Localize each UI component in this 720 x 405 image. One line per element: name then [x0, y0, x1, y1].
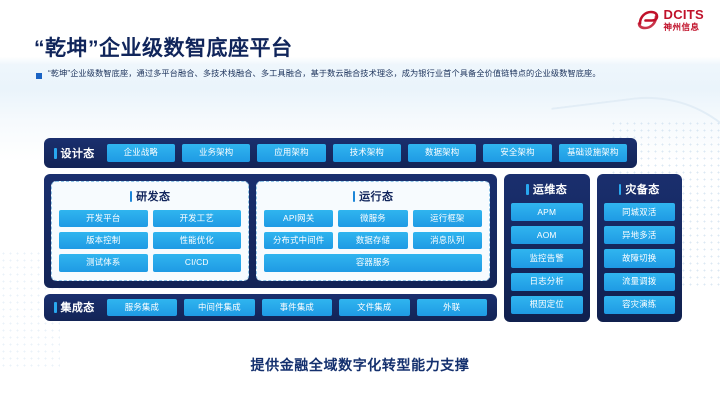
integration-layer-chips: 服务集成 中间件集成 事件集成 文件集成 外联: [107, 299, 487, 316]
page-title: “乾坤”企业级数智底座平台: [34, 32, 293, 62]
logo-en-text: DCITS: [664, 8, 705, 21]
diagram-left-stack: 研发态 开发平台 开发工艺 版本控制 性能优化 测试体系 CI/CD: [44, 174, 497, 322]
runtime-layer-label: 运行态: [264, 188, 482, 204]
runtime-chip[interactable]: 消息队列: [413, 232, 482, 249]
develop-chip[interactable]: 性能优化: [153, 232, 242, 249]
section-tick-icon: [619, 184, 622, 195]
runtime-layer-name: 运行态: [359, 188, 393, 204]
runtime-layer-card: 运行态 API网关 微服务 运行框架 分布式中间件 数据存储 消息队列 容器服务: [256, 181, 490, 281]
design-chip[interactable]: 安全架构: [483, 144, 551, 161]
develop-chip[interactable]: 测试体系: [59, 254, 148, 271]
develop-layer-chips: 开发平台 开发工艺 版本控制 性能优化 测试体系 CI/CD: [59, 210, 241, 272]
develop-layer-card: 研发态 开发平台 开发工艺 版本控制 性能优化 测试体系 CI/CD: [51, 181, 249, 281]
dr-chip[interactable]: 容灾演练: [604, 296, 676, 314]
diagram-middle-region: 研发态 开发平台 开发工艺 版本控制 性能优化 测试体系 CI/CD: [44, 174, 682, 322]
ops-layer-column: 运维态 APM AOM 监控告警 日志分析 根因定位: [504, 174, 590, 322]
ops-chip[interactable]: 根因定位: [511, 296, 583, 314]
develop-chip[interactable]: 版本控制: [59, 232, 148, 249]
design-chip[interactable]: 技术架构: [333, 144, 401, 161]
runtime-chip[interactable]: 数据存储: [338, 232, 407, 249]
design-layer-name: 设计态: [61, 145, 95, 161]
runtime-chip[interactable]: 微服务: [338, 210, 407, 227]
dcits-swoosh-icon: [637, 9, 659, 31]
square-bullet-icon: [36, 73, 42, 79]
design-layer-label: 设计态: [54, 145, 95, 161]
ops-chip[interactable]: AOM: [511, 226, 583, 244]
brand-logo: DCITS 神州信息: [637, 8, 705, 32]
ops-layer-chips: APM AOM 监控告警 日志分析 根因定位: [511, 203, 583, 314]
develop-runtime-panel: 研发态 开发平台 开发工艺 版本控制 性能优化 测试体系 CI/CD: [44, 174, 497, 288]
section-tick-icon: [526, 184, 529, 195]
design-layer-chips: 企业战略 业务架构 应用架构 技术架构 数据架构 安全架构 基础设施架构: [107, 144, 627, 161]
integration-layer-name: 集成态: [61, 299, 95, 315]
design-layer-row: 设计态 企业战略 业务架构 应用架构 技术架构 数据架构 安全架构 基础设施架构: [44, 138, 637, 168]
dr-chip[interactable]: 流量调拨: [604, 273, 676, 291]
runtime-chip[interactable]: API网关: [264, 210, 333, 227]
integration-chip[interactable]: 事件集成: [262, 299, 332, 316]
integration-layer-row: 集成态 服务集成 中间件集成 事件集成 文件集成 外联: [44, 294, 497, 321]
dr-layer-column: 灾备态 同城双活 异地多活 故障切换 流量调拨 容灾演练: [597, 174, 683, 322]
dr-chip[interactable]: 故障切换: [604, 249, 676, 267]
ops-chip[interactable]: 日志分析: [511, 273, 583, 291]
footer-tagline: 提供金融全域数字化转型能力支撑: [0, 355, 720, 375]
design-chip[interactable]: 基础设施架构: [559, 144, 627, 161]
dr-layer-chips: 同城双活 异地多活 故障切换 流量调拨 容灾演练: [604, 203, 676, 314]
runtime-chip-container-service[interactable]: 容器服务: [264, 254, 482, 271]
develop-layer-name: 研发态: [136, 188, 170, 204]
subtitle-text: “乾坤”企业级数智底座，通过多平台融合、多技术栈融合、多工具融合，基于数云融合技…: [48, 69, 601, 80]
integration-chip[interactable]: 服务集成: [107, 299, 177, 316]
architecture-diagram: 设计态 企业战略 业务架构 应用架构 技术架构 数据架构 安全架构 基础设施架构…: [44, 138, 682, 322]
develop-chip[interactable]: CI/CD: [153, 254, 242, 271]
integration-layer-label: 集成态: [54, 299, 95, 315]
develop-layer-label: 研发态: [59, 188, 241, 204]
runtime-chip[interactable]: 分布式中间件: [264, 232, 333, 249]
ops-chip[interactable]: 监控告警: [511, 249, 583, 267]
logo-cn-text: 神州信息: [664, 23, 705, 32]
ops-layer-name: 运维态: [533, 181, 567, 197]
ops-chip[interactable]: APM: [511, 203, 583, 221]
runtime-chip[interactable]: 运行框架: [413, 210, 482, 227]
integration-chip[interactable]: 外联: [417, 299, 487, 316]
integration-chip[interactable]: 中间件集成: [184, 299, 254, 316]
design-chip[interactable]: 企业战略: [107, 144, 175, 161]
runtime-layer-chips: API网关 微服务 运行框架 分布式中间件 数据存储 消息队列 容器服务: [264, 210, 482, 272]
ops-layer-label: 运维态: [511, 181, 583, 197]
design-chip[interactable]: 业务架构: [182, 144, 250, 161]
dr-layer-label: 灾备态: [604, 181, 676, 197]
design-chip[interactable]: 应用架构: [257, 144, 325, 161]
develop-chip[interactable]: 开发工艺: [153, 210, 242, 227]
dr-chip[interactable]: 同城双活: [604, 203, 676, 221]
subtitle-row: “乾坤”企业级数智底座，通过多平台融合、多技术栈融合、多工具融合，基于数云融合技…: [36, 69, 601, 80]
section-tick-icon: [54, 148, 57, 159]
section-tick-icon: [353, 191, 356, 202]
dr-chip[interactable]: 异地多活: [604, 226, 676, 244]
integration-chip[interactable]: 文件集成: [339, 299, 409, 316]
design-chip[interactable]: 数据架构: [408, 144, 476, 161]
develop-chip[interactable]: 开发平台: [59, 210, 148, 227]
section-tick-icon: [130, 191, 133, 202]
section-tick-icon: [54, 302, 57, 313]
dr-layer-name: 灾备态: [625, 181, 659, 197]
